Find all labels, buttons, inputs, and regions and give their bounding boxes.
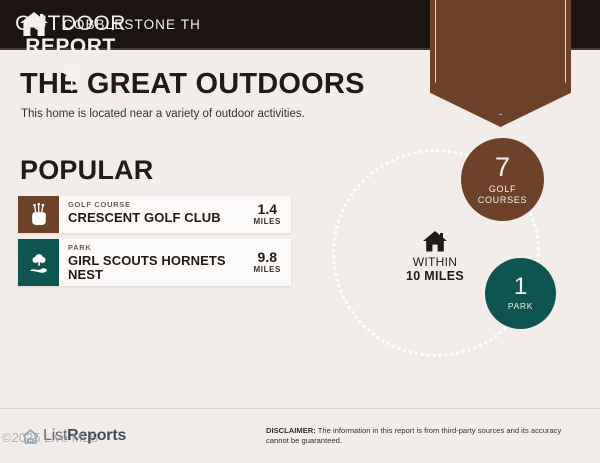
home-icon (422, 230, 448, 253)
list-item-body: PARK GIRL SCOUTS HORNETS NEST (59, 239, 250, 286)
tree-icon (60, 58, 84, 92)
golf-bag-icon (29, 203, 49, 227)
list-item-category: PARK (68, 243, 246, 253)
radius-center-label: WITHIN 10 MILES (390, 230, 480, 283)
list-item-distance: 9.8 MILES (250, 239, 291, 286)
count-bubble-label: PARK (508, 301, 533, 312)
count-bubble-number: 7 (495, 154, 510, 181)
list-item-distance: 1.4 MILES (250, 196, 291, 233)
badge-line-2: REPORT (0, 35, 141, 58)
radius-line-2: 10 MILES (390, 269, 480, 283)
park-tree-icon (28, 253, 50, 273)
list-item[interactable]: GOLF COURSE CRESCENT GOLF CLUB 1.4 MILES (18, 196, 291, 233)
page-subtitle: This home is located near a variety of o… (21, 108, 305, 120)
disclaimer-label: DISCLAIMER: (266, 426, 316, 435)
count-bubble-park: 1 PARK (485, 258, 556, 329)
list-item-distance-unit: MILES (254, 217, 281, 227)
badge-inner-border (435, 0, 566, 115)
copyright-watermark: ©2025 Live MLS (2, 430, 98, 445)
list-item[interactable]: PARK GIRL SCOUTS HORNETS NEST 9.8 MILES (18, 239, 291, 286)
list-item-category: GOLF COURSE (68, 200, 246, 210)
list-item-name: CRESCENT GOLF CLUB (68, 211, 246, 225)
popular-list: GOLF COURSE CRESCENT GOLF CLUB 1.4 MILES (18, 196, 291, 292)
list-item-distance-unit: MILES (254, 265, 281, 275)
disclaimer: DISCLAIMER: The information in this repo… (266, 426, 576, 446)
outdoor-report-page: COBBLESTONE TH OUTDOOR REPORT THE GREAT … (0, 0, 600, 463)
list-item-icon-tile (18, 239, 59, 286)
radius-line-1: WITHIN (390, 256, 480, 269)
count-bubble-golf-courses: 7 GOLF COURSES (461, 138, 544, 221)
list-item-distance-value: 9.8 (254, 250, 281, 265)
outdoor-report-badge (430, 0, 571, 127)
footer-divider (0, 408, 600, 409)
badge-text: OUTDOOR REPORT (0, 12, 141, 58)
list-item-name: GIRL SCOUTS HORNETS NEST (68, 254, 246, 282)
count-bubble-label: GOLF COURSES (466, 184, 540, 205)
list-item-distance-value: 1.4 (254, 202, 281, 217)
list-item-icon-tile (18, 196, 59, 233)
list-item-body: GOLF COURSE CRESCENT GOLF CLUB (59, 196, 250, 233)
section-title-popular: POPULAR (20, 155, 153, 186)
count-bubble-number: 1 (514, 275, 527, 299)
badge-line-1: OUTDOOR (0, 12, 141, 35)
